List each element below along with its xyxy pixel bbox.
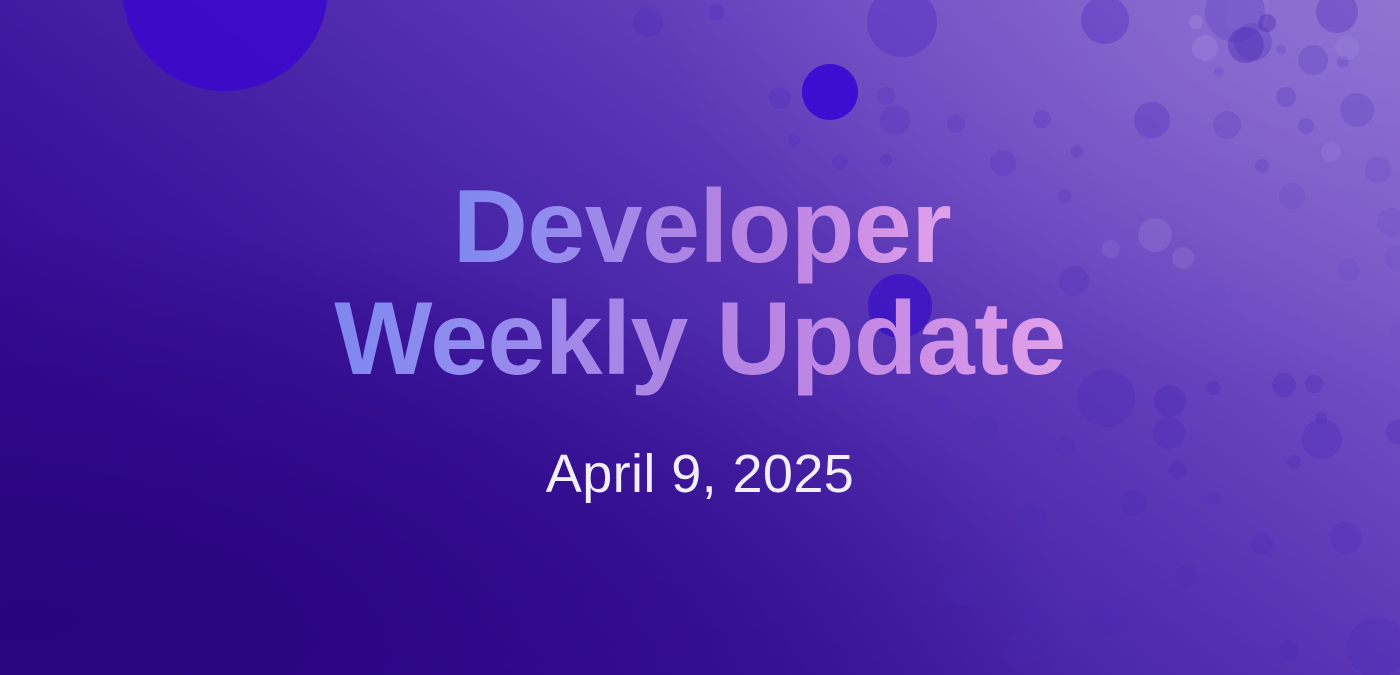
headline-line-2: Weekly Update xyxy=(334,282,1065,397)
slide-date: April 9, 2025 xyxy=(546,443,854,505)
headline-line-1: Developer xyxy=(453,170,951,285)
slide-content: Developer Weekly Update April 9, 2025 xyxy=(0,0,1400,675)
title-slide: Developer Weekly Update April 9, 2025 xyxy=(0,0,1400,675)
